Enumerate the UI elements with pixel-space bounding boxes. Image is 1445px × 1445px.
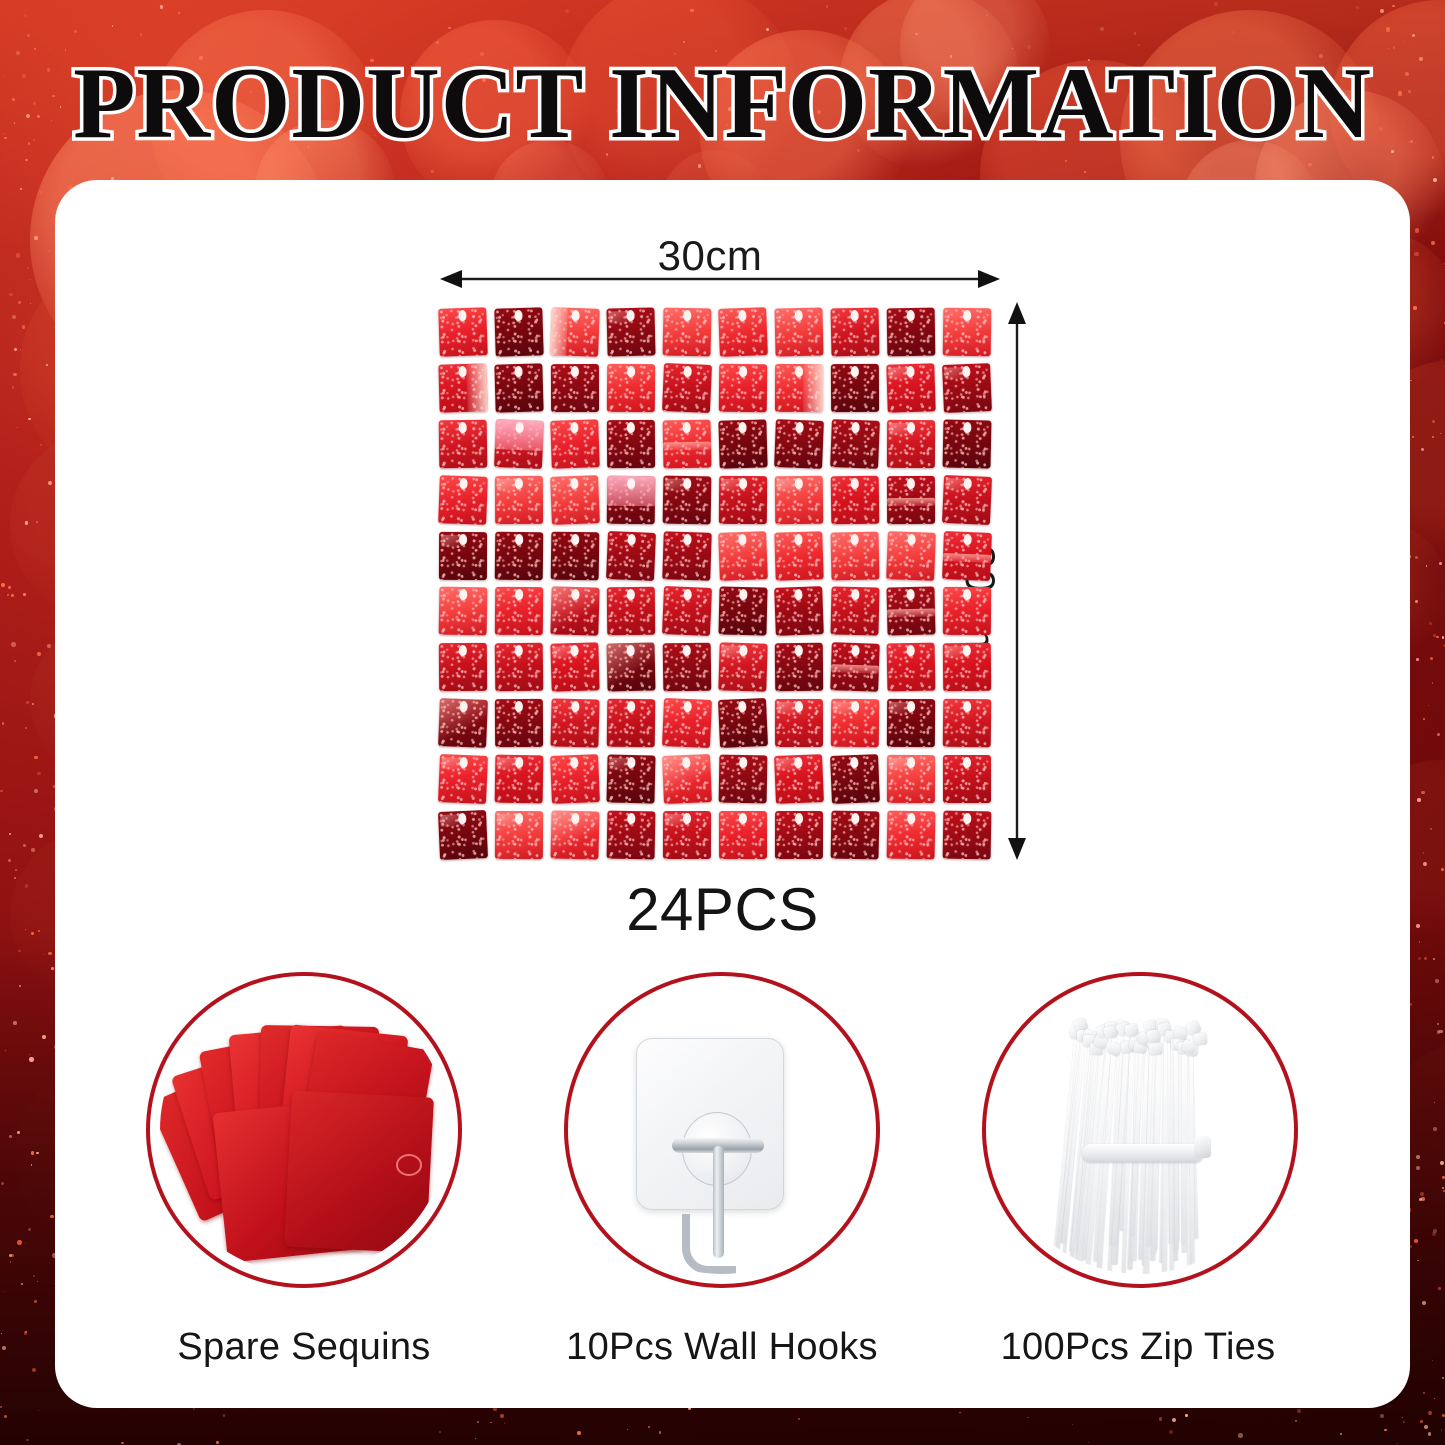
sequin-cell xyxy=(828,305,884,361)
adhesive-wall-hook-icon xyxy=(578,986,866,1274)
sequin-cell xyxy=(492,361,548,417)
sequin-hole xyxy=(964,422,972,433)
sequin-hole xyxy=(627,590,635,601)
sequin-hole xyxy=(572,534,580,545)
sequin-hole xyxy=(460,478,468,489)
sequin-hole xyxy=(459,645,467,656)
sequin-hole xyxy=(460,590,468,601)
sequin-cell xyxy=(548,751,604,807)
sequin-cell xyxy=(772,696,828,752)
accessory-caption-spare-sequins: Spare Sequins xyxy=(104,1326,504,1369)
sequin-hole xyxy=(851,757,859,768)
sequin-hole xyxy=(684,534,692,545)
sequin-hole xyxy=(627,311,635,322)
sequin-hole xyxy=(907,422,915,433)
quantity-label: 24PCS xyxy=(0,875,1445,944)
sequin-hole xyxy=(795,478,803,489)
sequin-cell xyxy=(548,528,604,584)
sequin-hole xyxy=(908,701,916,712)
sequin-hole xyxy=(907,366,915,377)
sequin-cell xyxy=(884,361,940,417)
sequin-cell xyxy=(716,640,772,696)
sequin-cell xyxy=(772,361,828,417)
sequin-cell xyxy=(548,696,604,752)
sequin-hole xyxy=(740,757,748,768)
sequin-hole xyxy=(515,645,523,656)
sequin-cell xyxy=(660,305,716,361)
sequin-hole xyxy=(852,422,860,433)
accessory-caption-wall-hooks: 10Pcs Wall Hooks xyxy=(522,1326,922,1369)
sequin-cell xyxy=(436,696,492,752)
sequin-cell xyxy=(492,807,548,863)
sequin-hole xyxy=(572,590,580,601)
white-zip-tie-bundle-icon xyxy=(996,986,1284,1274)
sequin-cell xyxy=(604,472,660,528)
sequin-cell xyxy=(548,305,604,361)
sequin-cell xyxy=(492,640,548,696)
sequin-hole xyxy=(908,813,916,824)
sequin-hole xyxy=(571,422,579,433)
sequin-cell xyxy=(716,751,772,807)
sequin-cell xyxy=(884,807,940,863)
sequin-hole xyxy=(740,590,748,601)
sequin-cell xyxy=(660,807,716,863)
sequin-hole xyxy=(907,645,915,656)
sequin-cell xyxy=(772,472,828,528)
sequin-hole xyxy=(851,367,859,378)
sequin-hole xyxy=(684,590,692,601)
accessory-caption-zip-ties: 100Pcs Zip Ties xyxy=(938,1326,1338,1369)
sequin-hole xyxy=(852,701,860,712)
sequin-cell xyxy=(492,584,548,640)
sequin-hole xyxy=(628,534,636,545)
infographic-root: PRODUCT INFORMATION 30cm 30cm 24PCS S xyxy=(0,0,1445,1445)
sequin-hole xyxy=(907,478,915,489)
sequin-cell xyxy=(604,417,660,473)
sequin-hole xyxy=(795,311,803,322)
sequin-cell xyxy=(884,751,940,807)
sequin-cell xyxy=(940,807,996,863)
sequin-hole xyxy=(684,366,692,377)
sequin-cell xyxy=(604,305,660,361)
sequin-cell xyxy=(828,361,884,417)
sequin-cell xyxy=(940,528,996,584)
sequin-hole xyxy=(907,757,915,768)
sequin-cell xyxy=(716,528,772,584)
sequin-hole xyxy=(963,757,971,768)
sequin-hole xyxy=(628,478,636,489)
sequin-cell xyxy=(772,528,828,584)
sequin-hole xyxy=(795,367,803,378)
sequin-cell xyxy=(884,417,940,473)
sequin-cell xyxy=(828,640,884,696)
sequin-hole xyxy=(963,366,971,377)
sequin-hole xyxy=(460,757,468,768)
sequin-cell xyxy=(716,584,772,640)
sequin-hole xyxy=(628,757,636,768)
sequin-cell xyxy=(828,472,884,528)
sequin-hole xyxy=(964,701,972,712)
sequin-cell xyxy=(436,528,492,584)
sequin-cell xyxy=(940,472,996,528)
sequin-cell xyxy=(492,417,548,473)
sequin-hole xyxy=(795,757,803,768)
sequin-hole xyxy=(516,590,524,601)
sequin-hole xyxy=(684,311,692,322)
page-title: PRODUCT INFORMATION xyxy=(0,50,1445,158)
sequin-cell xyxy=(716,472,772,528)
sequin-cell xyxy=(716,305,772,361)
accessory-spare-sequins xyxy=(146,972,462,1288)
sequin-cell xyxy=(828,807,884,863)
sequin-hole xyxy=(572,701,580,712)
sequin-cell xyxy=(548,640,604,696)
sequin-hole xyxy=(516,422,524,433)
sequin-panel xyxy=(436,305,996,863)
sequin-cell xyxy=(660,640,716,696)
sequin-cell xyxy=(548,361,604,417)
sequin-cell xyxy=(492,751,548,807)
sequin-hole xyxy=(740,366,748,377)
sequin-hole xyxy=(515,701,523,712)
sequin-cell xyxy=(884,472,940,528)
sequin-cell xyxy=(548,807,604,863)
sequin-cell xyxy=(548,417,604,473)
sequin-hole xyxy=(964,813,972,824)
sequin-hole xyxy=(627,422,635,433)
sequin-cell xyxy=(604,528,660,584)
sequin-hole xyxy=(683,645,691,656)
sequin-cell xyxy=(660,751,716,807)
sequin-cell xyxy=(660,472,716,528)
sequin-cell xyxy=(436,417,492,473)
sequin-cell xyxy=(492,528,548,584)
sequin-hole xyxy=(515,366,523,377)
sequin-hole xyxy=(572,311,580,322)
sequin-cell xyxy=(940,305,996,361)
red-square-sequins-stack-icon xyxy=(160,986,448,1274)
sequin-hole xyxy=(459,422,467,433)
sequin-hole xyxy=(796,422,804,433)
sequin-cell xyxy=(436,361,492,417)
sequin-hole xyxy=(571,645,579,656)
sequin-hole xyxy=(795,534,803,545)
sequin-cell xyxy=(884,305,940,361)
sequin-hole xyxy=(572,813,580,824)
sequin-hole xyxy=(684,478,692,489)
sequin-cell xyxy=(940,584,996,640)
sequin-cell xyxy=(828,751,884,807)
sequin-hole xyxy=(459,534,467,545)
sequin-cell xyxy=(940,417,996,473)
sequin-cell xyxy=(772,751,828,807)
sequin-cell xyxy=(604,751,660,807)
sequin-hole xyxy=(683,757,691,768)
sequin-hole xyxy=(740,478,748,489)
sequin-hole xyxy=(516,757,524,768)
sequin-hole xyxy=(515,478,523,489)
sequin-cell xyxy=(604,807,660,863)
sequin-cell xyxy=(940,751,996,807)
sequin-hole xyxy=(515,311,523,322)
sequin-hole xyxy=(739,813,747,824)
sequin-hole xyxy=(739,534,747,545)
sequin-cell xyxy=(884,584,940,640)
sequin-cell xyxy=(604,361,660,417)
sequin-hole xyxy=(964,478,972,489)
sequin-cell xyxy=(660,417,716,473)
sequin-hole xyxy=(683,813,691,824)
sequin-hole xyxy=(851,311,859,322)
sequin-cell xyxy=(772,584,828,640)
sequin-cell xyxy=(772,807,828,863)
sequin-cell xyxy=(716,361,772,417)
sequin-cell xyxy=(492,696,548,752)
sequin-cell xyxy=(436,305,492,361)
sequin-cell xyxy=(604,640,660,696)
sequin-hole xyxy=(628,813,636,824)
sequin-hole xyxy=(852,813,860,824)
width-dimension-arrow xyxy=(438,262,1002,296)
sequin-hole xyxy=(739,422,747,433)
sequin-cell xyxy=(940,696,996,752)
sequin-cell xyxy=(660,528,716,584)
sequin-hole xyxy=(460,701,468,712)
sequin-hole xyxy=(571,478,579,489)
sequin-cell xyxy=(548,584,604,640)
sequin-cell xyxy=(884,696,940,752)
sequin-cell xyxy=(492,472,548,528)
sequin-hole xyxy=(851,534,859,545)
sequin-cell xyxy=(772,417,828,473)
sequin-cell xyxy=(716,417,772,473)
sequin-cell xyxy=(604,696,660,752)
sequin-cell xyxy=(884,640,940,696)
sequin-hole xyxy=(515,813,523,824)
sequin-cell xyxy=(940,640,996,696)
sequin-hole xyxy=(459,366,467,377)
sequin-hole xyxy=(459,311,467,322)
sequin-cell xyxy=(828,584,884,640)
sequin-hole xyxy=(908,534,916,545)
sequin-hole xyxy=(628,701,636,712)
sequin-hole xyxy=(852,645,860,656)
sequin-hole xyxy=(684,701,692,712)
sequin-cell xyxy=(772,640,828,696)
sequin-cell xyxy=(828,528,884,584)
sequin-cell xyxy=(716,807,772,863)
sequin-hole xyxy=(795,701,803,712)
sequin-hole xyxy=(963,645,971,656)
accessory-zip-ties xyxy=(982,972,1298,1288)
sequin-hole xyxy=(852,590,860,601)
sequin-hole xyxy=(459,813,467,824)
sequin-hole xyxy=(907,590,915,601)
sequin-cell xyxy=(660,696,716,752)
sequin-hole xyxy=(571,757,579,768)
sequin-cell xyxy=(716,696,772,752)
sequin-cell xyxy=(884,528,940,584)
sequin-hole xyxy=(739,701,747,712)
sequin-hole xyxy=(964,590,972,601)
sequin-cell xyxy=(436,807,492,863)
sequin-hole xyxy=(907,311,915,322)
sequin-cell xyxy=(940,361,996,417)
sequin-hole xyxy=(795,645,803,656)
sequin-cell xyxy=(660,584,716,640)
sequin-cell xyxy=(660,361,716,417)
sequin-hole xyxy=(795,590,803,601)
sequin-cell xyxy=(548,472,604,528)
sequin-hole xyxy=(964,311,972,322)
sequin-cell xyxy=(604,584,660,640)
sequin-hole xyxy=(628,366,636,377)
height-dimension-arrow xyxy=(1000,300,1034,862)
sequin-hole xyxy=(516,534,524,545)
sequin-hole xyxy=(739,311,747,322)
sequin-hole xyxy=(795,813,803,824)
sequin-cell xyxy=(436,472,492,528)
sequin-hole xyxy=(683,422,691,433)
sequin-hole xyxy=(627,645,635,656)
sequin-hole xyxy=(964,534,972,545)
sequin-cell xyxy=(828,417,884,473)
sequin-cell xyxy=(772,305,828,361)
sequin-cell xyxy=(436,751,492,807)
accessory-wall-hooks xyxy=(564,972,880,1288)
sequin-cell xyxy=(436,584,492,640)
sequin-hole xyxy=(740,645,748,656)
sequin-hole xyxy=(571,367,579,378)
sequin-cell xyxy=(828,696,884,752)
sequin-hole xyxy=(851,478,859,489)
sequin-cell xyxy=(436,640,492,696)
sequin-cell xyxy=(492,305,548,361)
